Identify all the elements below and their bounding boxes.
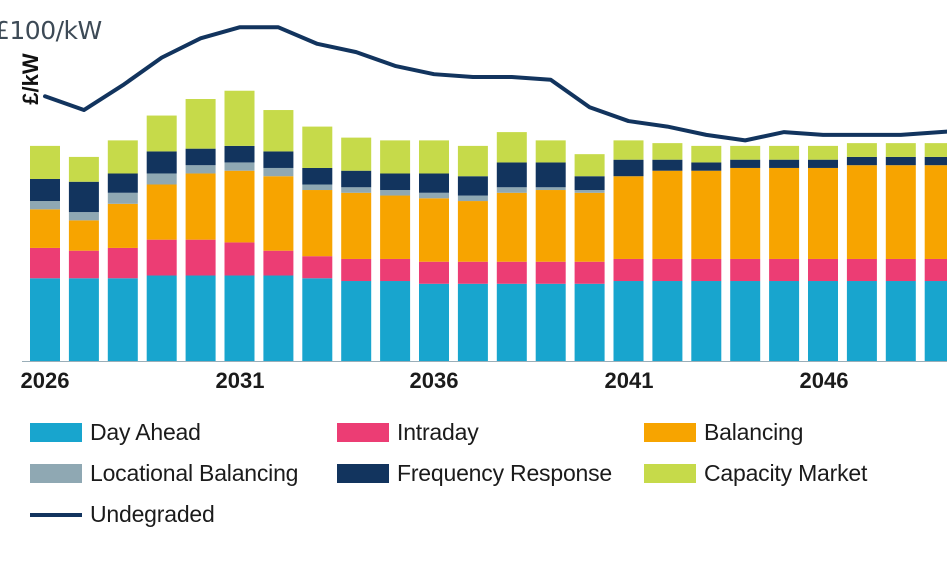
bar-segment	[614, 281, 644, 361]
bar-segment	[847, 259, 877, 281]
bar-segment	[925, 143, 947, 157]
legend-label: Intraday	[397, 419, 479, 446]
bar-segment	[575, 154, 605, 176]
bar-segment	[730, 160, 760, 168]
legend-label: Frequency Response	[397, 460, 612, 487]
bar-stack	[263, 110, 293, 361]
bar-segment	[730, 259, 760, 281]
legend-label: Undegraded	[90, 501, 215, 528]
bar-stack	[614, 140, 644, 361]
legend-color-swatch-icon	[644, 464, 696, 483]
undegraded-line	[45, 27, 947, 140]
bar-stack	[925, 143, 947, 361]
bar-segment	[263, 251, 293, 276]
bar-segment	[886, 143, 916, 157]
bar-segment	[652, 281, 682, 361]
bar-segment	[380, 259, 410, 281]
chart-root: £100/kW £/kW 20262031203620412046 Day Ah…	[0, 0, 947, 574]
bar-segment	[186, 276, 216, 361]
bar-segment	[458, 284, 488, 361]
bar-segment	[341, 281, 371, 361]
bar-segment	[847, 157, 877, 165]
bar-stack	[536, 140, 566, 361]
bar-segment	[263, 168, 293, 176]
bar-segment	[69, 278, 99, 361]
bar-segment	[69, 157, 99, 182]
bar-stack	[652, 143, 682, 361]
bar-segment	[769, 160, 799, 168]
bar-segment	[302, 185, 332, 191]
legend-row: Day AheadIntradayBalancing	[30, 412, 930, 453]
bar-segment	[69, 251, 99, 279]
bar-segment	[614, 160, 644, 177]
bar-segment	[614, 140, 644, 159]
legend-color-swatch-icon	[337, 423, 389, 442]
bar-segment	[69, 212, 99, 220]
legend-color-swatch-icon	[337, 464, 389, 483]
bar-segment	[769, 281, 799, 361]
bar-segment	[497, 162, 527, 187]
bar-segment	[302, 127, 332, 168]
bar-stack	[497, 132, 527, 361]
legend-item-intraday[interactable]: Intraday	[337, 419, 644, 446]
bar-segment	[652, 160, 682, 171]
bar-segment	[263, 276, 293, 361]
bar-segment	[886, 259, 916, 281]
bar-segment	[575, 190, 605, 193]
bar-segment	[419, 173, 449, 192]
bar-segment	[30, 278, 60, 361]
legend-item-capacity-market[interactable]: Capacity Market	[644, 460, 924, 487]
bar-segment	[302, 278, 332, 361]
plot-area	[0, 0, 947, 362]
bar-segment	[108, 204, 138, 248]
bar-segment	[147, 276, 177, 361]
x-axis-line	[22, 361, 947, 362]
legend-line-swatch-icon	[30, 513, 82, 517]
bar-segment	[575, 262, 605, 284]
legend-item-undegraded[interactable]: Undegraded	[30, 501, 337, 528]
bar-segment	[536, 162, 566, 187]
bar-stack	[847, 143, 877, 361]
bar-segment	[730, 168, 760, 259]
legend-row: Undegraded	[30, 494, 930, 535]
bar-segment	[769, 146, 799, 160]
bar-segment	[419, 284, 449, 361]
bar-segment	[147, 173, 177, 184]
bar-segment	[69, 182, 99, 212]
bar-segment	[186, 165, 216, 173]
bar-segment	[847, 165, 877, 259]
bar-stack	[886, 143, 916, 361]
bar-segment	[652, 259, 682, 281]
bar-segment	[925, 165, 947, 259]
bar-segment	[263, 151, 293, 168]
bar-segment	[341, 171, 371, 188]
bar-segment	[225, 91, 255, 146]
bar-segment	[458, 262, 488, 284]
bar-segment	[302, 256, 332, 278]
bar-segment	[769, 259, 799, 281]
bar-segment	[652, 143, 682, 160]
bar-segment	[263, 110, 293, 151]
bar-segment	[186, 240, 216, 276]
bar-segment	[147, 185, 177, 240]
bar-segment	[808, 281, 838, 361]
bar-segment	[186, 149, 216, 166]
legend-label: Locational Balancing	[90, 460, 298, 487]
bar-stack	[419, 140, 449, 361]
bar-segment	[225, 276, 255, 361]
chart-legend: Day AheadIntradayBalancingLocational Bal…	[30, 412, 930, 535]
bar-segment	[380, 190, 410, 196]
legend-color-swatch-icon	[30, 423, 82, 442]
bar-segment	[341, 187, 371, 193]
bar-segment	[108, 173, 138, 192]
bar-stack	[575, 154, 605, 361]
bar-segment	[30, 179, 60, 201]
bar-segment	[108, 278, 138, 361]
bar-segment	[186, 173, 216, 239]
bar-segment	[380, 196, 410, 259]
x-axis-tick-label: 2046	[800, 368, 849, 394]
legend-label: Balancing	[704, 419, 803, 446]
bar-stack	[147, 116, 177, 361]
bar-segment	[925, 281, 947, 361]
bar-segment	[497, 193, 527, 262]
bar-segment	[302, 190, 332, 256]
bar-segment	[225, 242, 255, 275]
legend-color-swatch-icon	[644, 423, 696, 442]
legend-item-balancing[interactable]: Balancing	[644, 419, 924, 446]
bar-segment	[30, 146, 60, 179]
x-axis-tick-label: 2036	[410, 368, 459, 394]
bar-stack	[302, 127, 332, 361]
bar-stack	[186, 99, 216, 361]
bar-segment	[30, 201, 60, 209]
legend-color-swatch-icon	[30, 464, 82, 483]
bar-segment	[730, 281, 760, 361]
bar-stack	[730, 146, 760, 361]
bar-segment	[536, 262, 566, 284]
legend-row: Locational BalancingFrequency ResponseCa…	[30, 453, 930, 494]
bar-segment	[147, 151, 177, 173]
bar-segment	[925, 259, 947, 281]
bar-segment	[419, 262, 449, 284]
bar-segment	[886, 165, 916, 259]
legend-label: Capacity Market	[704, 460, 867, 487]
legend-item-frequency-response[interactable]: Frequency Response	[337, 460, 644, 487]
bar-segment	[341, 259, 371, 281]
bar-segment	[302, 168, 332, 185]
bar-segment	[341, 138, 371, 171]
bar-segment	[652, 171, 682, 259]
bar-segment	[575, 284, 605, 361]
bar-segment	[341, 193, 371, 259]
bar-segment	[419, 193, 449, 199]
bar-segment	[886, 281, 916, 361]
legend-item-day-ahead[interactable]: Day Ahead	[30, 419, 337, 446]
bar-stack	[691, 146, 721, 361]
bar-segment	[108, 193, 138, 204]
bar-segment	[847, 281, 877, 361]
x-axis-tick-label: 2041	[605, 368, 654, 394]
bar-stack	[69, 157, 99, 361]
bar-segment	[419, 198, 449, 261]
bar-segment	[69, 220, 99, 250]
x-axis-tick-label: 2026	[21, 368, 70, 394]
bar-segment	[730, 146, 760, 160]
bar-segment	[614, 259, 644, 281]
bar-segment	[808, 259, 838, 281]
bar-segment	[186, 99, 216, 149]
x-axis-tick-label: 2031	[216, 368, 265, 394]
bar-segment	[458, 146, 488, 176]
bar-segment	[691, 259, 721, 281]
bar-segment	[497, 132, 527, 162]
bar-stack	[30, 146, 60, 361]
legend-item-locational-balancing[interactable]: Locational Balancing	[30, 460, 337, 487]
x-axis: 20262031203620412046	[0, 364, 947, 404]
plot-svg	[0, 0, 947, 362]
bar-segment	[575, 193, 605, 262]
bar-segment	[380, 281, 410, 361]
bar-segment	[263, 176, 293, 250]
bar-stack	[225, 91, 255, 361]
bar-segment	[147, 240, 177, 276]
legend-label: Day Ahead	[90, 419, 201, 446]
bar-stack	[108, 140, 138, 361]
bar-segment	[691, 146, 721, 163]
bar-segment	[458, 176, 488, 195]
bar-stack	[769, 146, 799, 361]
bar-segment	[614, 176, 644, 259]
bar-segment	[808, 146, 838, 160]
bar-segment	[497, 284, 527, 361]
bar-stack	[380, 140, 410, 361]
bar-segment	[225, 146, 255, 163]
bar-segment	[769, 168, 799, 259]
bar-segment	[225, 162, 255, 170]
bar-segment	[458, 201, 488, 262]
bar-segment	[497, 262, 527, 284]
bar-segment	[808, 160, 838, 168]
bar-segment	[380, 173, 410, 190]
bar-stack	[458, 146, 488, 361]
bar-segment	[886, 157, 916, 165]
bar-segment	[575, 176, 605, 190]
bar-stack	[341, 138, 371, 361]
bar-segment	[419, 140, 449, 173]
bar-segment	[691, 171, 721, 259]
bar-segment	[536, 190, 566, 262]
bar-segment	[108, 140, 138, 173]
bar-segment	[225, 171, 255, 243]
bar-segment	[30, 248, 60, 278]
bar-segment	[536, 187, 566, 190]
bar-segment	[808, 168, 838, 259]
bar-segment	[108, 248, 138, 278]
bar-segment	[691, 162, 721, 170]
bar-segment	[147, 116, 177, 152]
bar-segment	[536, 140, 566, 162]
bar-segment	[497, 187, 527, 193]
bar-segment	[536, 284, 566, 361]
bar-segment	[691, 281, 721, 361]
bar-segment	[380, 140, 410, 173]
bar-segment	[847, 143, 877, 157]
bar-segment	[458, 196, 488, 202]
bar-segment	[925, 157, 947, 165]
bar-stack	[808, 146, 838, 361]
bar-segment	[30, 209, 60, 248]
